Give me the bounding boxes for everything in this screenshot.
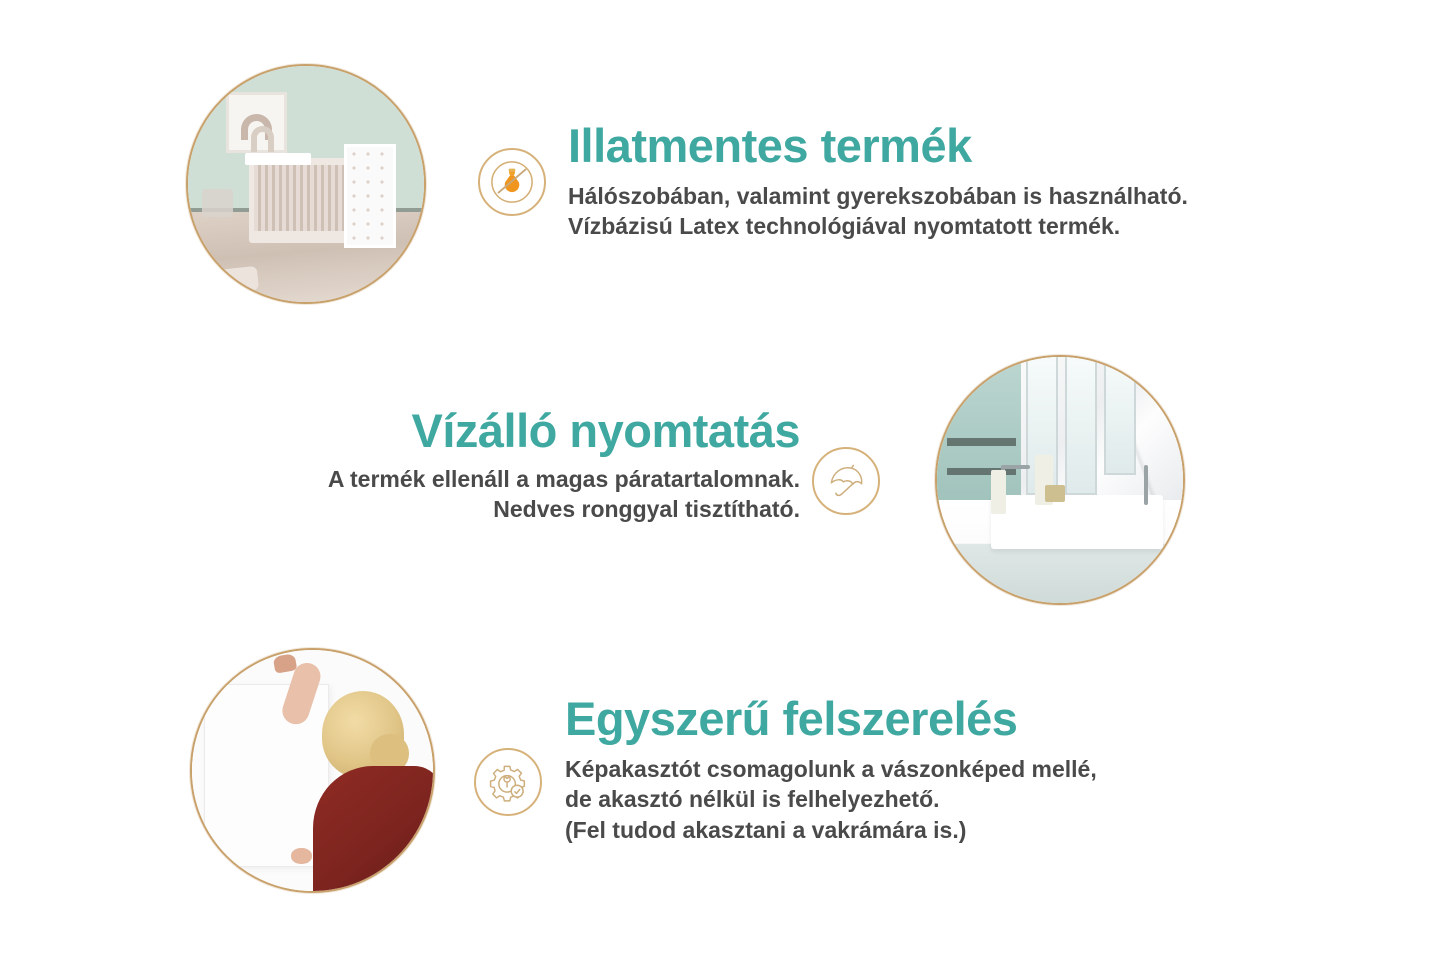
nursery-wall-art-frame (226, 92, 287, 153)
hanging-canvas-photo (190, 648, 435, 893)
nursery-basket (202, 189, 233, 217)
vizallo-text-block: Vízálló nyomtatás A termék ellenáll a ma… (160, 405, 800, 525)
feature-body-line: A termék ellenáll a magas páratartalomna… (160, 464, 800, 495)
bathroom-faucet-spout (1001, 465, 1031, 469)
nursery-crib-bars (254, 165, 358, 231)
feature-heading: Vízálló nyomtatás (160, 405, 800, 458)
bathroom-photo (935, 355, 1185, 605)
illatmentes-text-block: Illatmentes termék Hálószobában, valamin… (568, 120, 1188, 242)
rainbow-art-icon (241, 114, 272, 141)
person-hand-upper (273, 653, 297, 673)
bathroom-soap-bottle (991, 470, 1006, 514)
bathroom-mint-wall (937, 357, 1021, 510)
umbrella-icon (812, 447, 880, 515)
no-fragrance-bottle-icon (478, 148, 546, 216)
infographic-page: Illatmentes termék Hálószobában, valamin… (0, 0, 1445, 963)
bathroom-faucet (1144, 465, 1148, 504)
nursery-photo (186, 64, 426, 304)
feature-body-line: de akasztó nélkül is felhelyezhető. (565, 784, 1097, 815)
feature-body-line: Nedves ronggyal tisztítható. (160, 494, 800, 525)
bathroom-jar (1045, 485, 1065, 502)
person-torso (313, 766, 436, 893)
blank-canvas (204, 684, 329, 867)
feature-heading: Illatmentes termék (568, 120, 1188, 173)
egyszeru-text-block: Egyszerű felszerelés Képakasztót csomago… (565, 693, 1097, 845)
nursery-crib-headboard (344, 144, 396, 248)
feature-body-line: Hálószobában, valamint gyerekszobában is… (568, 181, 1188, 212)
feature-body-line: (Fel tudod akasztani a vakrámára is.) (565, 815, 1097, 846)
bathroom-mirror (1065, 355, 1097, 495)
nursery-crib-rail (245, 153, 311, 165)
nursery-scene (188, 66, 424, 302)
hanging-canvas-scene (192, 650, 433, 891)
bathroom-scene (937, 357, 1183, 603)
bathroom-shelf (947, 438, 1016, 445)
gear-wrench-check-icon (474, 748, 542, 816)
feature-heading: Egyszerű felszerelés (565, 693, 1097, 746)
feature-body-line: Képakasztót csomagolunk a vászonképed me… (565, 754, 1097, 785)
feature-body-line: Vízbázisú Latex technológiával nyomtatot… (568, 211, 1188, 242)
bathroom-mirror (1104, 355, 1136, 475)
bathroom-basin (991, 495, 1163, 549)
